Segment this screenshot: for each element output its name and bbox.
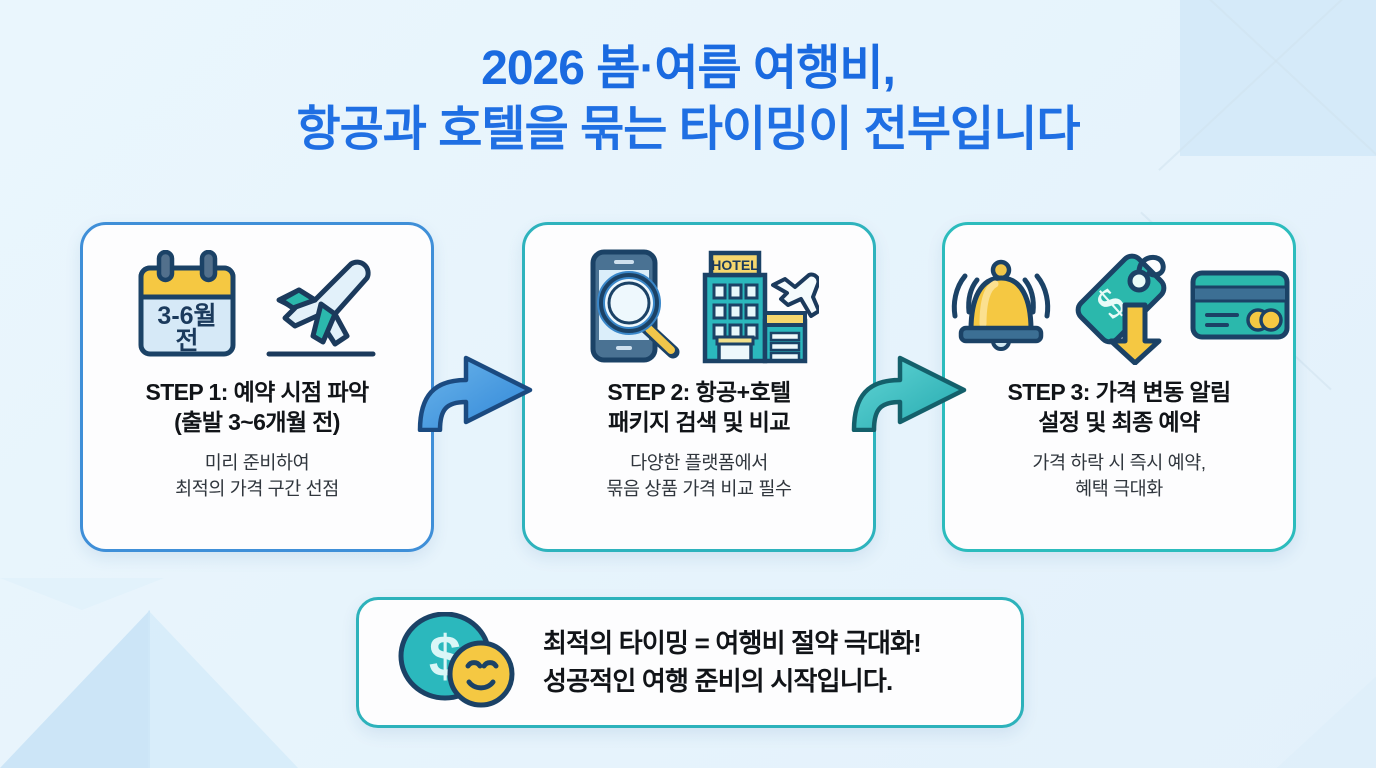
step-card-1[interactable]: 3-6월 전 STEP 1: 예약 시점 파악 (출발 3~6개월 전) xyxy=(80,222,434,552)
phone-search-icon xyxy=(579,248,683,369)
summary-line-1: 최적의 타이밍 = 여행비 절약 극대화! xyxy=(543,625,921,663)
step-2-icon-row: HOTEL xyxy=(579,247,819,369)
page-title-line-1: 2026 봄·여름 여행비, xyxy=(0,38,1376,99)
step-3-subtitle: 가격 하락 시 즉시 예약, 혜택 극대화 xyxy=(1032,450,1205,503)
step-card-2[interactable]: HOTEL xyxy=(522,222,876,552)
bg-triangle-right xyxy=(148,610,298,768)
step-3-icon-row: $ xyxy=(947,247,1291,369)
step-1-sub-line2: 최적의 가격 구간 선점 xyxy=(175,476,339,502)
step-2-title: STEP 2: 항공+호텔 패키지 검색 및 비교 xyxy=(607,377,790,438)
bg-triangle-corner xyxy=(1266,658,1376,768)
arrow-step2-to-step3 xyxy=(848,340,972,432)
hotel-sign-label: HOTEL xyxy=(711,257,759,273)
calendar-label-line1: 3-6월 xyxy=(157,302,216,330)
dollar-coin-icon: $ xyxy=(393,612,515,713)
hotel-building-icon: HOTEL xyxy=(697,247,819,370)
step-card-3[interactable]: $ STEP xyxy=(942,222,1296,552)
step-3-title-line1: STEP 3: 가격 변동 알림 xyxy=(1007,377,1230,407)
step-2-title-line2: 패키지 검색 및 비교 xyxy=(607,407,790,437)
calendar-icon: 3-6월 전 xyxy=(133,250,241,367)
step-1-title-line1: STEP 1: 예약 시점 파악 xyxy=(145,377,368,407)
page-title-line-2: 항공과 호텔을 묶는 타이밍이 전부입니다 xyxy=(0,99,1376,160)
step-1-icon-row: 3-6월 전 xyxy=(133,247,381,369)
price-tag-down-icon: $ xyxy=(1069,247,1175,370)
summary-banner[interactable]: $ 최적의 타이밍 = 여행비 절약 극대화! 성공적인 여행 준비의 시작입니… xyxy=(356,597,1024,728)
step-2-subtitle: 다양한 플랫폼에서 묶음 상품 가격 비교 필수 xyxy=(606,450,791,503)
arrow-step1-to-step2 xyxy=(414,340,538,432)
step-3-sub-line1: 가격 하락 시 즉시 예약, xyxy=(1032,450,1205,476)
summary-banner-text: 최적의 타이밍 = 여행비 절약 극대화! 성공적인 여행 준비의 시작입니다. xyxy=(543,625,921,700)
step-2-title-line1: STEP 2: 항공+호텔 xyxy=(607,377,790,407)
airplane-takeoff-icon xyxy=(255,250,381,367)
step-2-sub-line1: 다양한 플랫폼에서 xyxy=(606,450,791,476)
step-2-sub-line2: 묶음 상품 가격 비교 필수 xyxy=(606,476,791,502)
bg-triangle-left xyxy=(0,610,150,768)
step-1-title-line2: (출발 3~6개월 전) xyxy=(145,407,368,437)
page-header: 2026 봄·여름 여행비, 항공과 호텔을 묶는 타이밍이 전부입니다 xyxy=(0,38,1376,161)
step-3-title-line2: 설정 및 최종 예약 xyxy=(1007,407,1230,437)
step-1-subtitle: 미리 준비하여 최적의 가격 구간 선점 xyxy=(175,450,339,503)
summary-line-2: 성공적인 여행 준비의 시작입니다. xyxy=(543,663,921,701)
bg-triangle-top xyxy=(0,578,164,610)
smiley-face-icon xyxy=(450,643,512,705)
calendar-label-line2: 전 xyxy=(175,327,198,355)
step-1-sub-line1: 미리 준비하여 xyxy=(175,450,339,476)
credit-card-icon xyxy=(1189,265,1291,352)
step-3-title: STEP 3: 가격 변동 알림 설정 및 최종 예약 xyxy=(1007,377,1230,438)
steps-row: 3-6월 전 STEP 1: 예약 시점 파악 (출발 3~6개월 전) xyxy=(0,222,1376,552)
step-1-title: STEP 1: 예약 시점 파악 (출발 3~6개월 전) xyxy=(145,377,368,438)
airplane-icon xyxy=(773,274,819,315)
step-3-sub-line2: 혜택 극대화 xyxy=(1032,476,1205,502)
